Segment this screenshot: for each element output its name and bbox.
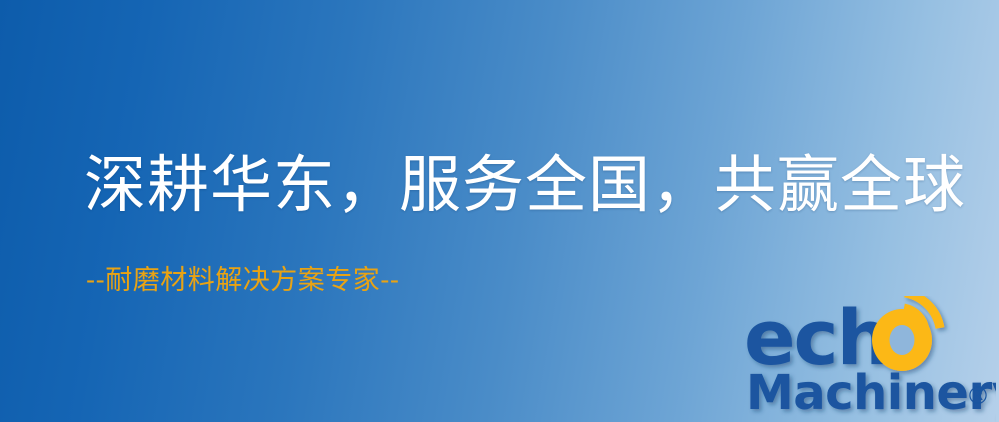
banner-headline: 深耕华东，服务全国，共赢全球 — [84, 152, 966, 217]
echo-machinery-logo: ech Machinery ® — [744, 296, 996, 422]
logo-tagline-text: Machinery — [746, 365, 996, 421]
banner-subtitle: --耐磨材料解决方案专家-- — [86, 266, 400, 296]
logo-svg: ech Machinery ® — [744, 296, 996, 422]
logo-registered-mark: ® — [966, 382, 990, 410]
logo-tagline-group: Machinery ® — [746, 365, 996, 421]
promo-banner: 深耕华东，服务全国，共赢全球 --耐磨材料解决方案专家-- ech — [0, 0, 999, 422]
